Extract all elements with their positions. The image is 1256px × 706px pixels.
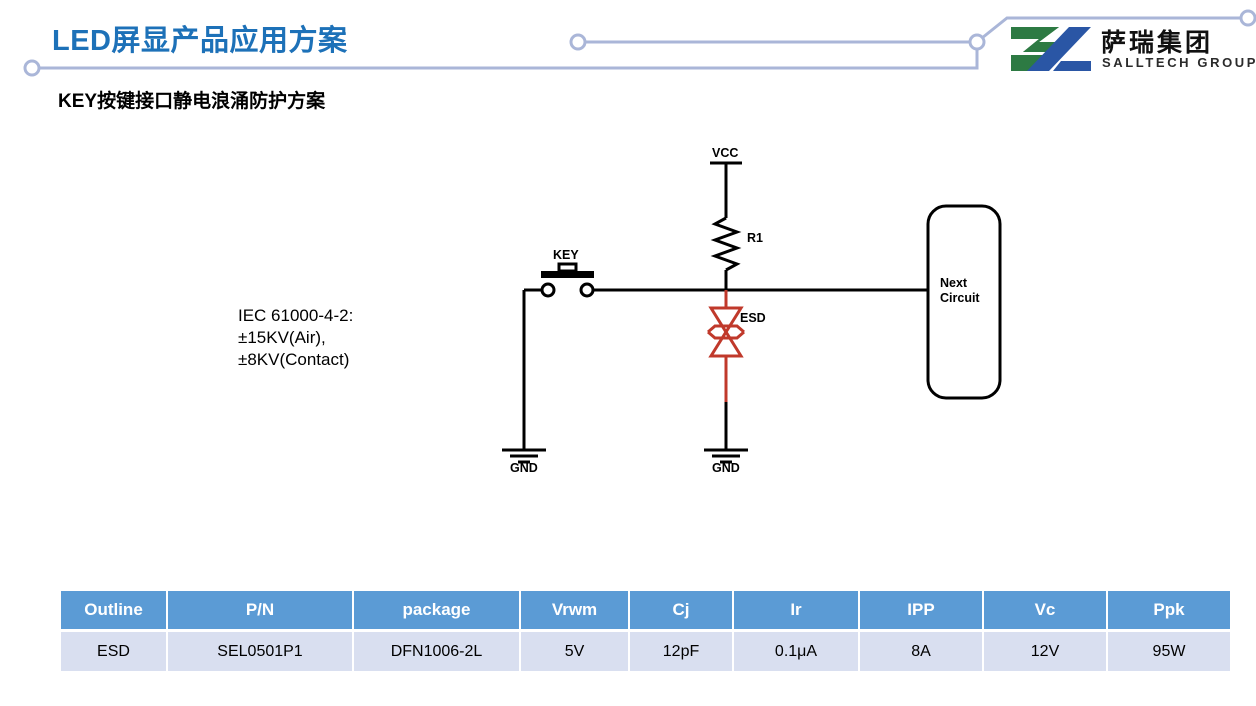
- section-subtitle: KEY按键接口静电浪涌防护方案: [58, 86, 325, 113]
- device-spec-table: Outline P/N package Vrwm Cj Ir IPP Vc Pp…: [61, 591, 1230, 671]
- cell-ipp: 8A: [860, 629, 984, 671]
- iec-spec-note: IEC 61000-4-2: ±15KV(Air), ±8KV(Contact): [238, 305, 353, 371]
- gnd-left-label: GND: [510, 461, 538, 475]
- cell-package: DFN1006-2L: [354, 629, 521, 671]
- th-outline: Outline: [61, 591, 168, 629]
- page-header: LED屏显产品应用方案 萨瑞集团 SALLTECH GROUP: [0, 0, 1256, 90]
- cell-ppk: 95W: [1108, 629, 1230, 671]
- cell-vrwm: 5V: [521, 629, 630, 671]
- logo-name-en: SALLTECH GROUP: [1102, 55, 1256, 70]
- page-title: LED屏显产品应用方案: [52, 17, 348, 59]
- table-header-row: Outline P/N package Vrwm Cj Ir IPP Vc Pp…: [61, 591, 1230, 629]
- th-pn: P/N: [168, 591, 354, 629]
- esd-label: ESD: [740, 311, 766, 325]
- th-cj: Cj: [630, 591, 734, 629]
- th-ppk: Ppk: [1108, 591, 1230, 629]
- iec-standard-line: IEC 61000-4-2:: [238, 305, 353, 327]
- iec-air-discharge-line: ±15KV(Air),: [238, 327, 353, 349]
- gnd-right-label: GND: [712, 461, 740, 475]
- th-ipp: IPP: [860, 591, 984, 629]
- cell-outline: ESD: [61, 629, 168, 671]
- resistor-r1-symbol: [715, 218, 737, 270]
- vcc-label: VCC: [712, 146, 738, 160]
- cell-pn: SEL0501P1: [168, 629, 354, 671]
- key-actuator-cap: [559, 264, 576, 271]
- next-circuit-line-1: Next: [940, 276, 980, 291]
- cell-vc: 12V: [984, 629, 1108, 671]
- th-vrwm: Vrwm: [521, 591, 630, 629]
- esd-triangle-upper: [711, 308, 741, 332]
- key-label: KEY: [553, 248, 579, 262]
- circuit-schematic: VCC R1 KEY ESD GND GND Next Circuit: [440, 130, 1080, 500]
- esd-triangle-lower: [711, 332, 741, 356]
- iec-contact-discharge-line: ±8KV(Contact): [238, 349, 353, 371]
- salltech-logo-mark: [1009, 25, 1093, 73]
- table-row: ESD SEL0501P1 DFN1006-2L 5V 12pF 0.1μA 8…: [61, 629, 1230, 671]
- next-circuit-line-2: Circuit: [940, 291, 980, 306]
- cell-cj: 12pF: [630, 629, 734, 671]
- logo-name-cn: 萨瑞集团: [1101, 23, 1213, 59]
- company-logo: 萨瑞集团 SALLTECH GROUP: [1009, 22, 1249, 77]
- th-package: package: [354, 591, 521, 629]
- key-contact-right: [581, 284, 593, 296]
- r1-label: R1: [747, 231, 763, 245]
- next-circuit-label: Next Circuit: [940, 276, 980, 306]
- key-contact-left: [542, 284, 554, 296]
- th-ir: Ir: [734, 591, 860, 629]
- cell-ir: 0.1μA: [734, 629, 860, 671]
- th-vc: Vc: [984, 591, 1108, 629]
